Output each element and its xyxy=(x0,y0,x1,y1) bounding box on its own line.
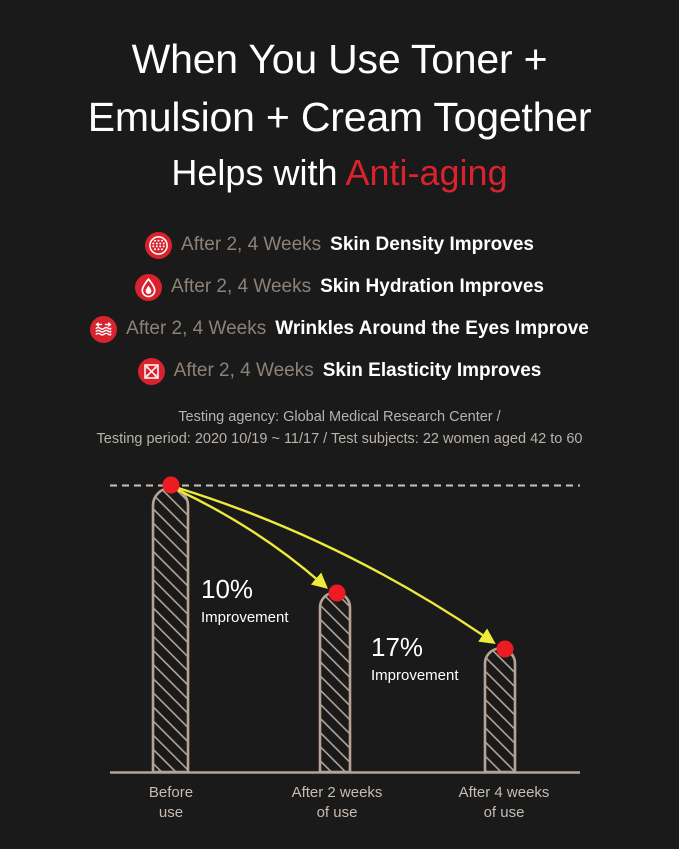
list-item: After 2, 4 Weeks Skin Density Improves xyxy=(0,224,679,266)
testing-note: Testing agency: Global Medical Research … xyxy=(0,406,679,450)
x-tick-label-1-line-2: use xyxy=(159,804,183,821)
annotation-label-2: Improvement xyxy=(371,667,459,684)
skin-density-mesh-icon xyxy=(145,232,172,259)
title-block: When You Use Toner + Emulsion + Cream To… xyxy=(0,30,679,200)
title-line-3-accent: Anti-aging xyxy=(345,152,507,193)
list-item-label: Skin Hydration Improves xyxy=(320,276,544,298)
annotation-value-2: 17% xyxy=(371,632,423,662)
list-item: After 2, 4 Weeks Skin Elasticity Improve… xyxy=(0,350,679,392)
bar-chart: 10% Improvement 17% Improvement Before u… xyxy=(0,470,679,849)
list-item-prefix: After 2, 4 Weeks xyxy=(174,360,314,382)
elasticity-square-icon xyxy=(138,358,165,385)
list-item-label: Wrinkles Around the Eyes Improve xyxy=(275,318,589,340)
testing-note-line-1: Testing agency: Global Medical Research … xyxy=(0,406,679,428)
bar-after-2-weeks xyxy=(320,593,350,773)
bar-after-4-weeks xyxy=(485,649,515,773)
title-line-2: Emulsion + Cream Together xyxy=(0,88,679,146)
title-line-3: Helps with Anti-aging xyxy=(0,146,679,200)
testing-note-line-2: Testing period: 2020 10/19 ~ 11/17 / Tes… xyxy=(0,428,679,450)
x-tick-label-1-line-1: Before xyxy=(149,784,193,801)
annotation-value-1: 10% xyxy=(201,574,253,604)
title-line-1: When You Use Toner + xyxy=(0,30,679,88)
benefit-list: After 2, 4 Weeks Skin Density Improves A… xyxy=(0,224,679,392)
marker-before-use xyxy=(163,477,180,494)
list-item-prefix: After 2, 4 Weeks xyxy=(181,234,321,256)
list-item: After 2, 4 Weeks Skin Hydration Improves xyxy=(0,266,679,308)
water-droplet-icon xyxy=(135,274,162,301)
bar-before-use xyxy=(153,488,188,772)
arrow-10-percent xyxy=(178,490,320,582)
marker-after-2-weeks xyxy=(329,585,346,602)
x-tick-label-3-line-1: After 4 weeks xyxy=(459,784,550,801)
x-tick-label-3-line-2: of use xyxy=(484,804,525,821)
infographic-root: When You Use Toner + Emulsion + Cream To… xyxy=(0,0,679,849)
list-item-label: Skin Density Improves xyxy=(330,234,534,256)
marker-after-4-weeks xyxy=(497,641,514,658)
list-item-label: Skin Elasticity Improves xyxy=(323,360,542,382)
x-tick-label-2-line-2: of use xyxy=(317,804,358,821)
list-item-prefix: After 2, 4 Weeks xyxy=(171,276,311,298)
x-tick-label-2-line-1: After 2 weeks xyxy=(292,784,383,801)
wrinkle-lines-icon xyxy=(90,316,117,343)
list-item-prefix: After 2, 4 Weeks xyxy=(126,318,266,340)
annotation-label-1: Improvement xyxy=(201,609,289,626)
title-line-3-plain: Helps with xyxy=(171,152,345,193)
list-item: After 2, 4 Weeks Wrinkles Around the Eye… xyxy=(0,308,679,350)
